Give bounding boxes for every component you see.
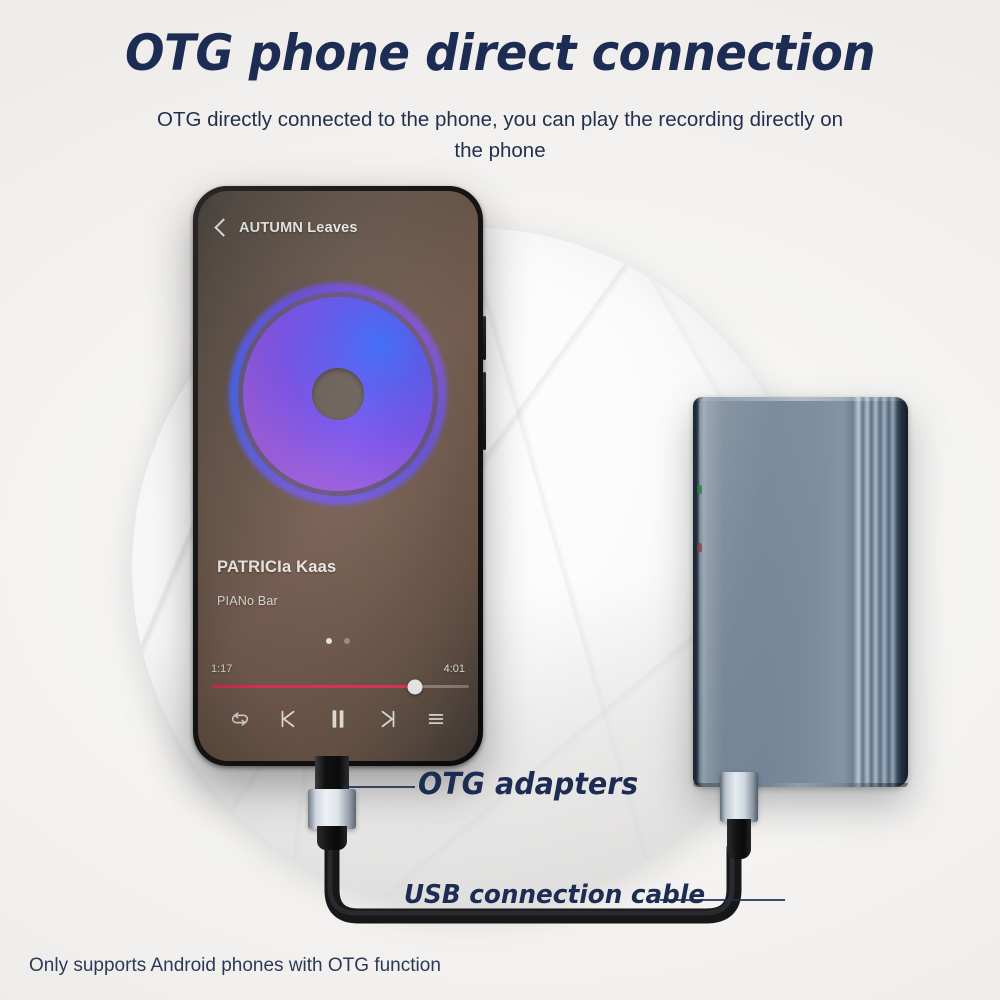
duration-time: 4:01 (444, 663, 465, 675)
repeat-icon[interactable] (229, 708, 251, 730)
otg-callout-leader-line (343, 786, 415, 788)
phone-power-button[interactable] (483, 372, 486, 450)
progress-bar[interactable] (211, 685, 469, 688)
usb-connector-strain-relief (727, 819, 751, 859)
otg-adapter-connector (308, 756, 356, 848)
page-dot-active[interactable] (326, 638, 332, 644)
track-artist: PATRICIa Kaas (217, 558, 336, 577)
previous-icon[interactable] (277, 708, 299, 730)
page-subtitle: OTG directly connected to the phone, you… (150, 104, 850, 166)
playback-controls (198, 706, 478, 732)
music-app-bar: AUTUMN Leaves (198, 219, 478, 237)
footer-note: Only supports Android phones with OTG fu… (29, 955, 441, 977)
now-playing-info: PATRICIa Kaas PIANo Bar (217, 558, 336, 608)
recorder-top-edge (693, 397, 908, 401)
progress-fill (211, 685, 415, 688)
page-title: OTG phone direct connection (35, 24, 965, 82)
otg-adapter-body (308, 789, 356, 829)
otg-adapter-strain-relief (317, 826, 347, 850)
usb-connector-shell (720, 772, 758, 822)
phone-volume-up-button[interactable] (483, 316, 486, 360)
app-bar-title: AUTUMN Leaves (239, 220, 358, 236)
usb-connector (716, 772, 762, 858)
callout-otg-adapters: OTG adapters (418, 767, 638, 802)
chevron-left-icon[interactable] (215, 219, 226, 237)
recorder-power-led (697, 485, 702, 494)
android-phone: AUTUMN Leaves PATRICIa Kaas PIANo Bar 1:… (193, 186, 483, 766)
recorder-gloss (699, 397, 832, 787)
callout-usb-cable: USB connection cable (404, 880, 705, 910)
pause-icon[interactable] (325, 706, 351, 732)
recorder-record-led (697, 543, 702, 552)
elapsed-time: 1:17 (211, 663, 232, 675)
page-indicator (198, 638, 478, 644)
progress-knob[interactable] (407, 679, 422, 694)
album-art-disc (229, 283, 447, 505)
playlist-icon[interactable] (425, 708, 447, 730)
next-icon[interactable] (377, 708, 399, 730)
playback-times: 1:17 4:01 (211, 663, 465, 675)
disc-center-hole (312, 368, 364, 420)
page-dot[interactable] (344, 638, 350, 644)
phone-screen: AUTUMN Leaves PATRICIa Kaas PIANo Bar 1:… (198, 191, 478, 761)
voice-recorder-device (693, 397, 908, 787)
track-album: PIANo Bar (217, 594, 336, 608)
